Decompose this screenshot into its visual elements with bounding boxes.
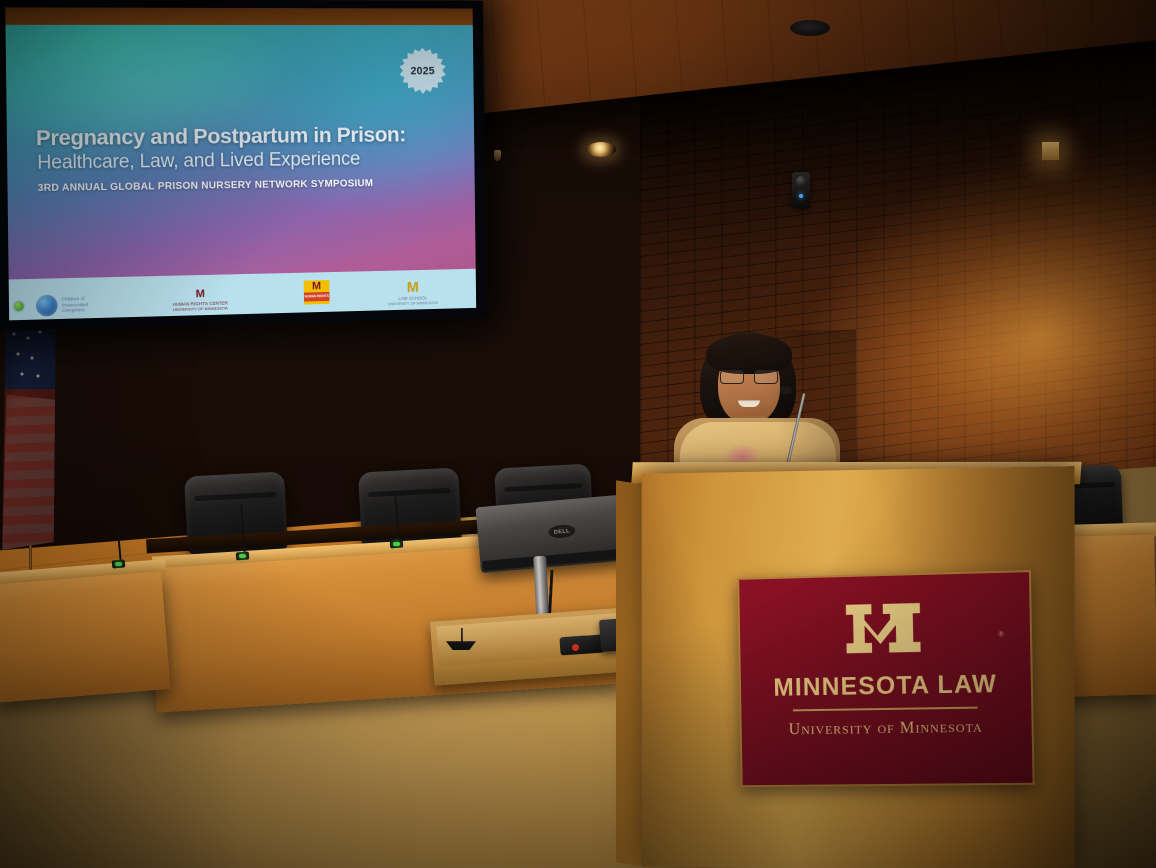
um-line-1: LAW SCHOOL <box>398 295 427 301</box>
logo-um-law: M LAW SCHOOL UNIVERSITY OF MINNESOTA <box>388 279 438 307</box>
screen-top-band <box>5 7 473 25</box>
hrc-line-2: UNIVERSITY OF MINNESOTA <box>173 307 228 313</box>
sprinkler-head-icon <box>494 150 501 161</box>
red-indicator-icon <box>572 644 579 651</box>
status-led-icon <box>799 194 803 198</box>
photo-scene: 2025 Pregnancy and Postpartum in Prison:… <box>0 0 1156 868</box>
year-badge: 2025 <box>398 47 447 96</box>
plaque-title: MINNESOTA LAW <box>773 670 997 703</box>
hrc-m-icon: M <box>196 289 205 300</box>
plaque-divider <box>793 707 978 711</box>
podium-plaque: ® MINNESOTA LAW University of Minnesota <box>737 570 1034 787</box>
bench-left-panel <box>0 571 170 703</box>
microphone-active-led-icon <box>115 562 122 566</box>
av-device-small <box>559 634 604 655</box>
podium-microphone-head <box>780 386 792 394</box>
um-line-2: UNIVERSITY OF MINNESOTA <box>388 301 438 307</box>
plaque-subtitle: University of Minnesota <box>788 716 982 739</box>
cic-logo-icon <box>36 295 58 317</box>
camera-lens-icon <box>796 176 806 186</box>
cic-line-3: Caregivers <box>62 307 88 313</box>
wall-camera-device <box>792 172 810 208</box>
dell-logo: DELL <box>548 524 576 539</box>
hrp-m-icon: M <box>312 281 321 292</box>
presentation-slide: 2025 Pregnancy and Postpartum in Prison:… <box>5 25 476 321</box>
logo-human-rights-center: M HUMAN RIGHTS CENTER UNIVERSITY OF MINN… <box>173 288 228 313</box>
registered-trademark-icon: ® <box>998 631 1003 638</box>
ceiling-speaker <box>790 20 830 36</box>
hrp-box: M HUMAN RIGHTS <box>304 280 330 304</box>
um-m-icon: M <box>407 280 419 295</box>
minnesota-m-logo-icon <box>840 597 926 661</box>
ceiling-can-light <box>586 142 616 157</box>
accessibility-badge-icon <box>14 302 23 311</box>
microphone-active-led-icon <box>239 554 246 558</box>
microphone-active-led-icon <box>393 542 400 546</box>
logo-human-rights-program: M HUMAN RIGHTS <box>304 280 330 304</box>
wall-sconce-light <box>1042 142 1059 160</box>
year-badge-label: 2025 <box>398 47 447 96</box>
hrp-label: HUMAN RIGHTS <box>304 292 330 302</box>
logo-children-of-incarcerated-caregivers: Children of Incarcerated Caregivers <box>36 294 88 317</box>
projection-screen: 2025 Pregnancy and Postpartum in Prison:… <box>5 7 476 320</box>
slide-title: Pregnancy and Postpartum in Prison: <box>36 123 429 149</box>
hrp-line-1: HUMAN RIGHTS <box>305 295 329 299</box>
projection-screen-frame: 2025 Pregnancy and Postpartum in Prison:… <box>0 0 487 331</box>
